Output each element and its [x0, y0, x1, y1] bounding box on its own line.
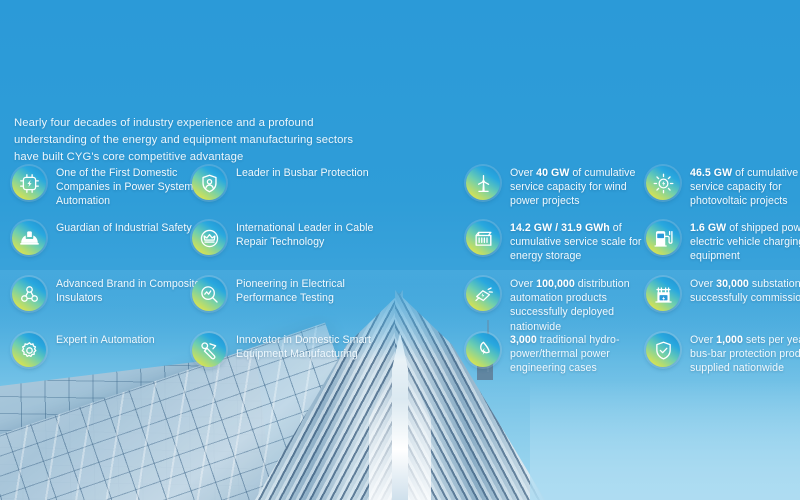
statistic-prefix: Over — [510, 278, 536, 290]
gear-automation-icon — [12, 333, 46, 367]
substation-icon — [646, 277, 680, 311]
smart-equipment-tool-icon — [192, 333, 226, 367]
statistic-prefix: Over — [690, 334, 716, 346]
statistic-value: 1.6 GW — [690, 222, 726, 234]
statistic-text: 14.2 GW / 31.9 GWh of cumulative service… — [510, 221, 650, 264]
statistic-text: Over 1,000 sets per year of bus-bar prot… — [690, 333, 800, 376]
feature-label: Pioneering in Electrical Performance Tes… — [236, 277, 386, 305]
feature-item[interactable]: Expert in Automation — [12, 333, 206, 367]
feature-item[interactable]: Innovator in Domestic Smart Equipment Ma… — [192, 333, 386, 367]
statistic-text: 3,000 traditional hydro-power/thermal po… — [510, 333, 650, 376]
statistic-value: 14.2 GW / 31.9 GWh — [510, 222, 610, 234]
feature-item[interactable]: Pioneering in Electrical Performance Tes… — [192, 277, 386, 311]
statistic-value: 100,000 — [536, 278, 575, 290]
distribution-automation-icon — [466, 277, 500, 311]
performance-testing-magnifier-icon — [192, 277, 226, 311]
statistic-text: 1.6 GW of shipped power for electric veh… — [690, 221, 800, 264]
feature-item[interactable]: International Leader in Cable Repair Tec… — [192, 221, 386, 255]
feature-label: One of the First Domestic Companies in P… — [56, 166, 206, 209]
ev-charging-station-icon — [646, 221, 680, 255]
statistic-text: Over 100,000 distribution automation pro… — [510, 277, 650, 334]
cable-repair-crown-icon — [192, 221, 226, 255]
statistic-item[interactable]: Over 40 GW of cumulative service capacit… — [466, 166, 650, 209]
feature-item[interactable]: Advanced Brand in Composite Insulators — [12, 277, 206, 311]
statistic-prefix: Over — [510, 167, 536, 179]
feature-item[interactable]: One of the First Domestic Companies in P… — [12, 166, 206, 209]
statistic-value: 30,000 — [716, 278, 749, 290]
feature-label: Guardian of Industrial Safety — [56, 221, 206, 235]
statistic-item[interactable]: 46.5 GW of cumulative service capacity f… — [646, 166, 800, 209]
busbar-protection-shield-icon — [192, 166, 226, 200]
energy-storage-battery-icon — [466, 221, 500, 255]
solar-sun-icon — [646, 166, 680, 200]
hard-hat-icon — [12, 221, 46, 255]
statistic-item[interactable]: 1.6 GW of shipped power for electric veh… — [646, 221, 800, 264]
statistic-value: 46.5 GW — [690, 167, 732, 179]
feature-label: Advanced Brand in Composite Insulators — [56, 277, 206, 305]
statistic-item[interactable]: Over 1,000 sets per year of bus-bar prot… — [646, 333, 800, 376]
statistic-prefix: Over — [690, 278, 716, 290]
statistic-value: 1,000 — [716, 334, 743, 346]
statistic-item[interactable]: 3,000 traditional hydro-power/thermal po… — [466, 333, 650, 376]
statistic-item[interactable]: Over 100,000 distribution automation pro… — [466, 277, 650, 334]
feature-label: Innovator in Domestic Smart Equipment Ma… — [236, 333, 386, 361]
feature-item[interactable]: Leader in Busbar Protection — [192, 166, 386, 200]
content-layer: Nearly four decades of industry experien… — [0, 0, 800, 500]
feature-label: Leader in Busbar Protection — [236, 166, 386, 180]
feature-item[interactable]: Guardian of Industrial Safety — [12, 221, 206, 255]
intro-paragraph: Nearly four decades of industry experien… — [14, 115, 374, 166]
power-automation-chip-icon — [12, 166, 46, 200]
composite-insulator-icon — [12, 277, 46, 311]
infographic-banner: Nearly four decades of industry experien… — [0, 0, 800, 500]
statistic-text: Over 40 GW of cumulative service capacit… — [510, 166, 650, 209]
statistic-value: 40 GW — [536, 167, 569, 179]
statistic-text: Over 30,000 substations successfully com… — [690, 277, 800, 305]
statistic-value: 3,000 — [510, 334, 537, 346]
statistic-item[interactable]: 14.2 GW / 31.9 GWh of cumulative service… — [466, 221, 650, 264]
feature-label: International Leader in Cable Repair Tec… — [236, 221, 386, 249]
statistic-item[interactable]: Over 30,000 substations successfully com… — [646, 277, 800, 311]
feature-label: Expert in Automation — [56, 333, 206, 347]
busbar-shield-check-icon — [646, 333, 680, 367]
wind-turbine-icon — [466, 166, 500, 200]
hydro-power-drop-icon — [466, 333, 500, 367]
statistic-text: 46.5 GW of cumulative service capacity f… — [690, 166, 800, 209]
